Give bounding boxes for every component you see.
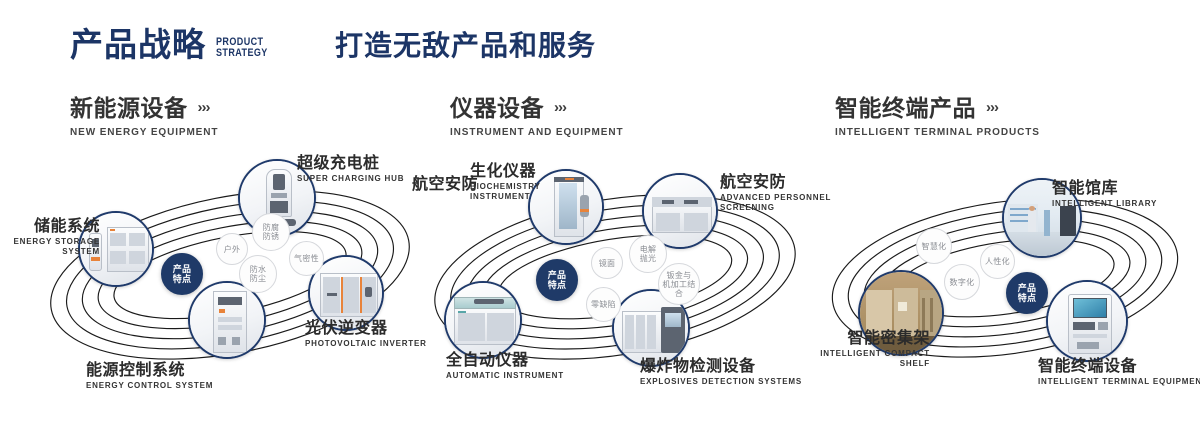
- chevron-right-icon: ›››: [198, 100, 210, 117]
- label-super-charging-hub: 超级充电桩 SUPER CHARGING HUB: [297, 155, 404, 184]
- feature-bubble-mirror-finish: 镜面: [591, 247, 623, 279]
- label-intelligent-library: 智能馆库 INTELLIGENT LIBRARY: [1052, 180, 1157, 209]
- feature-label: 智慧化: [922, 242, 947, 251]
- feature-bubble-waterproof: 防水防尘: [239, 255, 277, 293]
- feature-label: 数字化: [950, 278, 975, 287]
- feature-bubble-intelligent: 智慧化: [916, 228, 952, 264]
- label-en: BIOCHEMISTRYINSTRUMENT: [470, 182, 541, 202]
- label-intelligent-compact-shelf: 智能密集架 INTELLIGENT COMPACTSHELF: [790, 330, 930, 369]
- feature-bubble-airtight: 气密性: [289, 241, 324, 276]
- label-explosives-detection-systems: 爆炸物检测设备 EXPLOSIVES DETECTION SYSTEMS: [640, 358, 802, 387]
- automatic-analyzer-photo: [446, 283, 520, 357]
- feature-bubble-primary-intelligent-terminal: 产品特点: [1006, 272, 1048, 314]
- label-cn: 智能馆库: [1052, 180, 1157, 198]
- masthead: 产品战略 PRODUCT STRATEGY: [70, 28, 279, 61]
- feature-label: 电解抛光: [640, 245, 657, 263]
- feature-label: 人性化: [985, 257, 1010, 266]
- feature-label: 产品特点: [1018, 283, 1037, 303]
- label-cn: 生化仪器: [470, 163, 541, 181]
- feature-bubble-primary-new-energy: 产品特点: [161, 253, 203, 295]
- feature-label: 气密性: [294, 254, 319, 263]
- label-cn: 航空安防: [412, 176, 478, 194]
- feature-label: 产品特点: [548, 270, 567, 290]
- section-title-text-intelligent-terminal: 智能终端产品: [835, 96, 976, 121]
- page-subtitle: 打造无敌产品和服务: [335, 32, 596, 60]
- section-title-en-new-energy: NEW ENERGY EQUIPMENT: [70, 127, 218, 138]
- label-aviation-security-left: 航空安防: [412, 176, 478, 194]
- section-header-intelligent-terminal: 智能终端产品 ››› INTELLIGENT TERMINAL PRODUCTS: [835, 96, 1040, 138]
- page-title-english-line2: STRATEGY: [216, 48, 268, 59]
- chevron-right-icon: ›››: [986, 100, 998, 117]
- feature-label: 户外: [224, 245, 241, 254]
- feature-label: 产品特点: [173, 264, 192, 284]
- chevron-right-icon: ›››: [554, 100, 566, 117]
- label-en: PHOTOVOLTAIC INVERTER: [305, 339, 427, 349]
- label-automatic-instrument: 全自动仪器 AUTOMATIC INSTRUMENT: [446, 352, 564, 381]
- label-energy-storage-system: 储能系统 ENERGY STORAGESYSTEM: [0, 218, 100, 257]
- node-intelligent-terminal-equipment[interactable]: [1046, 280, 1128, 362]
- label-en: EXPLOSIVES DETECTION SYSTEMS: [640, 377, 802, 387]
- label-intelligent-terminal-equipment: 智能终端设备 INTELLIGENT TERMINAL EQUIPMENT: [1038, 358, 1200, 387]
- section-title-en-intelligent-terminal: INTELLIGENT TERMINAL PRODUCTS: [835, 127, 1040, 138]
- security-gate-photo: [530, 171, 602, 243]
- label-en: AUTOMATIC INSTRUMENT: [446, 371, 564, 381]
- section-title-cn-new-energy: 新能源设备 ›››: [70, 96, 218, 121]
- cluster-new-energy: 产品特点 户外 防腐防锈 防水防尘 气密性: [40, 155, 420, 390]
- feature-bubble-zero-defect: 零缺陷: [586, 287, 621, 322]
- label-cn: 全自动仪器: [446, 352, 564, 370]
- section-title-text-instrument: 仪器设备: [450, 96, 544, 121]
- label-cn: 超级充电桩: [297, 155, 404, 173]
- label-en: INTELLIGENT TERMINAL EQUIPMENT: [1038, 377, 1200, 387]
- section-header-new-energy: 新能源设备 ››› NEW ENERGY EQUIPMENT: [70, 96, 218, 138]
- label-en: INTELLIGENT LIBRARY: [1052, 199, 1157, 209]
- label-cn: 光伏逆变器: [305, 320, 427, 338]
- feature-bubble-digital: 数字化: [944, 264, 980, 300]
- label-cn: 储能系统: [0, 218, 100, 236]
- feature-bubble-sheetmetal-machining: 钣金与机加工结合: [658, 263, 700, 305]
- label-cn: 爆炸物检测设备: [640, 358, 802, 376]
- control-cabinet-photo: [190, 283, 264, 357]
- feature-label: 防水防尘: [250, 265, 267, 283]
- label-en: INTELLIGENT COMPACTSHELF: [790, 349, 930, 369]
- section-title-cn-instrument: 仪器设备 ›››: [450, 96, 623, 121]
- label-cn: 智能终端设备: [1038, 358, 1200, 376]
- label-cn: 智能密集架: [790, 330, 930, 348]
- feature-bubble-primary-instrument: 产品特点: [536, 259, 578, 301]
- label-photovoltaic-inverter: 光伏逆变器 PHOTOVOLTAIC INVERTER: [305, 320, 427, 349]
- label-biochemistry-instrument: 生化仪器 BIOCHEMISTRYINSTRUMENT: [470, 163, 541, 202]
- feature-label: 镜面: [599, 259, 616, 268]
- feature-bubble-humanized: 人性化: [980, 244, 1015, 279]
- label-en: SUPER CHARGING HUB: [297, 174, 404, 184]
- page-title-english: PRODUCT STRATEGY: [216, 37, 268, 59]
- node-automatic-instrument[interactable]: [444, 281, 522, 359]
- label-energy-control-system: 能源控制系统 ENERGY CONTROL SYSTEM: [86, 362, 213, 391]
- section-title-text-new-energy: 新能源设备: [70, 96, 188, 121]
- feature-bubble-electropolishing: 电解抛光: [629, 235, 667, 273]
- feature-label: 零缺陷: [591, 300, 616, 309]
- section-title-cn-intelligent-terminal: 智能终端产品 ›››: [835, 96, 1040, 121]
- feature-label: 防腐防锈: [263, 223, 280, 241]
- feature-bubble-anticorrosion: 防腐防锈: [252, 213, 290, 251]
- label-en: ENERGY STORAGESYSTEM: [0, 237, 100, 257]
- section-header-instrument: 仪器设备 ››› INSTRUMENT AND EQUIPMENT: [450, 96, 623, 138]
- feature-label: 钣金与机加工结合: [659, 271, 699, 298]
- page-title: 产品战略: [70, 28, 206, 61]
- product-strategy-infographic: 产品战略 PRODUCT STRATEGY 打造无敌产品和服务 新能源设备 ››…: [0, 0, 1200, 422]
- section-title-en-instrument: INSTRUMENT AND EQUIPMENT: [450, 127, 623, 138]
- kiosk-terminal-photo: [1048, 282, 1126, 360]
- label-cn: 能源控制系统: [86, 362, 213, 380]
- label-en: ENERGY CONTROL SYSTEM: [86, 381, 213, 391]
